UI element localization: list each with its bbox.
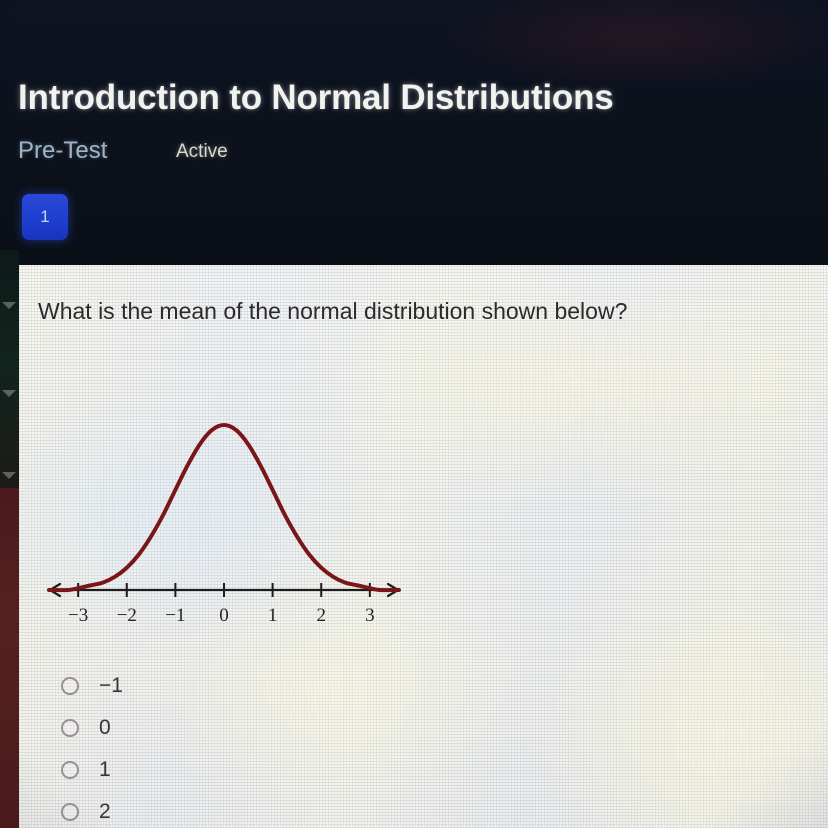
axis-tick-label: 0 [219,605,229,626]
axis-tick-label: 2 [316,605,326,626]
axis-tick-label: −1 [165,605,185,626]
photo-left-edge-dark [0,250,19,492]
assessment-type-label: Pre-Test [18,137,107,165]
axis-tick-label: −2 [117,605,137,626]
question-number-badge[interactable]: 1 [22,194,68,240]
edge-marker-icon [2,390,16,397]
lesson-header: Introduction to Normal Distributions Pre… [0,0,828,265]
answer-option-2[interactable]: 1 [39,749,379,791]
screenshot-photo: Introduction to Normal Distributions Pre… [0,0,828,828]
answer-option-0[interactable]: −1 [39,665,379,707]
answer-option-3[interactable]: 2 [39,791,379,828]
question-prompt: What is the mean of the normal distribut… [38,298,627,325]
edge-marker-icon [2,472,16,479]
photo-left-edge-maroon [0,488,19,828]
bell-curve-chart: −3−2−10123 [39,415,409,645]
edge-marker-icon [2,302,16,309]
answer-option-label: −1 [99,674,123,698]
question-panel: What is the mean of the normal distribut… [19,265,828,828]
radio-button-icon[interactable] [61,803,79,821]
axis-tick-label: −3 [68,605,88,626]
radio-button-icon[interactable] [61,719,79,737]
answer-option-label: 1 [99,758,111,782]
answer-option-1[interactable]: 0 [39,707,379,749]
status-badge: Active [176,141,228,163]
answer-option-label: 2 [99,800,111,824]
normal-distribution-figure: −3−2−10123 [39,415,409,645]
answer-option-label: 0 [99,716,111,740]
normal-curve-path [49,425,399,590]
radio-button-icon[interactable] [61,677,79,695]
axis-tick-label: 1 [268,605,278,626]
radio-button-icon[interactable] [61,761,79,779]
page-title: Introduction to Normal Distributions [18,78,614,118]
answer-options-list: −1012 [39,665,379,828]
axis-tick-label: 3 [365,605,375,626]
